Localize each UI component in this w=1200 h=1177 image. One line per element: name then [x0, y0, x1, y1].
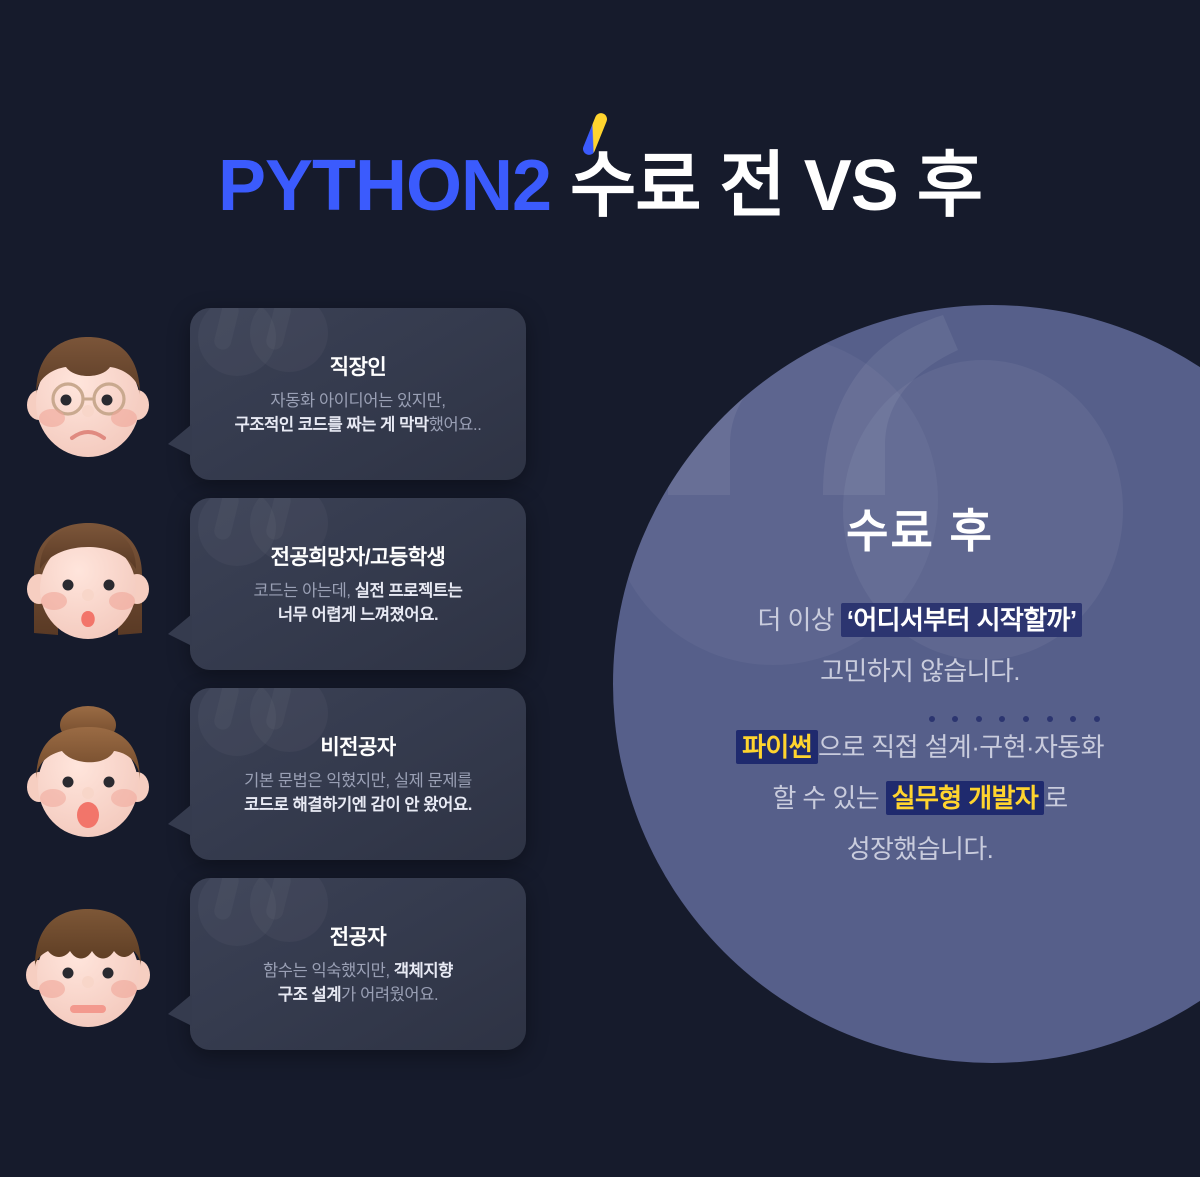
bubble-tail: [168, 614, 192, 646]
after-text-block: 수료 후 더 이상 ‘어디서부터 시작할까’ 고민하지 않습니다. 파이썬으로 …: [640, 495, 1200, 874]
card-line-2: 구조적인 코드를 짜는 게 막막했어요..: [235, 414, 482, 438]
after-highlight-question: ‘어디서부터 시작할까’: [841, 603, 1083, 637]
poster-canvas: PYTHON2 수료 전 VS 후: [0, 0, 1200, 1177]
bubble-tail: [168, 424, 192, 456]
card-body: 전공자 함수는 익숙했지만, 객체지향 구조 설계가 어려웠어요.: [190, 878, 526, 1050]
testimonial-card-3[interactable]: 비전공자 기본 문법은 익혔지만, 실제 문제를 코드로 해결하기엔 감이 안 …: [190, 688, 526, 860]
card-line-2-normal: 했어요..: [429, 416, 482, 434]
avatar-woman-bun: [14, 703, 162, 851]
after-line-4: 할 수 있는 실무형 개발자로: [640, 773, 1200, 824]
after-line-2: 고민하지 않습니다.: [640, 646, 1200, 697]
card-body: 비전공자 기본 문법은 익혔지만, 실제 문제를 코드로 해결하기엔 감이 안 …: [190, 688, 526, 860]
card-line-2: 코드로 해결하기엔 감이 안 왔어요.: [244, 794, 472, 818]
card-line-2: 구조 설계가 어려웠어요.: [278, 984, 438, 1008]
testimonial-card-4[interactable]: 전공자 함수는 익숙했지만, 객체지향 구조 설계가 어려웠어요.: [190, 878, 526, 1050]
page-title: PYTHON2 수료 전 VS 후: [0, 150, 1200, 222]
card-title: 직장인: [330, 351, 386, 381]
avatar-boy-bowlcut: [14, 893, 162, 1041]
after-line-3-mid: 으로 직접: [818, 732, 925, 762]
title-rest-space: [551, 146, 570, 226]
card-line-1: 기본 문법은 익혔지만, 실제 문제를: [244, 770, 472, 794]
card-title: 비전공자: [320, 731, 395, 761]
card-line-1: 코드는 아는데, 실전 프로젝트는: [254, 580, 463, 604]
card-line-2-bold: 구조 설계: [278, 986, 341, 1004]
after-line-4-suffix: 로: [1044, 783, 1067, 813]
slash-accent-icon: [580, 110, 610, 158]
emphasis-dots-icon: [925, 716, 1104, 724]
after-line-5: 성장했습니다.: [640, 824, 1200, 875]
bubble-tail: [168, 994, 192, 1026]
card-body: 전공희망자/고등학생 코드는 아는데, 실전 프로젝트는 너무 어렵게 느껴졌어…: [190, 498, 526, 670]
testimonial-card-1[interactable]: 직장인 자동화 아이디어는 있지만, 구조적인 코드를 짜는 게 막막했어요..: [190, 308, 526, 480]
avatar-student-long-hair: [14, 513, 162, 661]
after-line-3-dotted-text: 설계·구현·자동화: [925, 732, 1104, 762]
card-title: 전공희망자/고등학생: [271, 541, 446, 571]
after-line-1: 더 이상 ‘어디서부터 시작할까’: [640, 595, 1200, 646]
testimonial-card-2[interactable]: 전공희망자/고등학생 코드는 아는데, 실전 프로젝트는 너무 어렵게 느껴졌어…: [190, 498, 526, 670]
title-rest: 수료 전 VS 후: [570, 146, 982, 226]
after-title: 수료 후: [640, 495, 1200, 561]
card-line-1-bold: 실전 프로젝트는: [355, 582, 463, 600]
card-title: 전공자: [330, 921, 386, 951]
after-highlight-developer: 실무형 개발자: [886, 781, 1045, 815]
card-line-1: 함수는 익숙했지만, 객체지향: [263, 960, 453, 984]
card-line-2-bold: 구조적인 코드를 짜는 게 막막: [235, 416, 429, 434]
after-line-3: 파이썬으로 직접 설계·구현·자동화: [640, 722, 1200, 773]
card-line-1-normal: 코드는 아는데,: [254, 582, 355, 600]
after-line-3-dotted: 설계·구현·자동화: [925, 732, 1104, 762]
card-body: 직장인 자동화 아이디어는 있지만, 구조적인 코드를 짜는 게 막막했어요..: [190, 308, 526, 480]
card-line-1-bold: 객체지향: [394, 962, 453, 980]
after-line-4-prefix: 할 수 있는: [772, 783, 885, 813]
card-line-1-normal: 함수는 익숙했지만,: [263, 962, 394, 980]
bubble-tail: [168, 804, 192, 836]
after-line-1-prefix: 더 이상: [758, 605, 841, 635]
title-brand: PYTHON2: [218, 146, 551, 226]
card-line-1: 자동화 아이디어는 있지만,: [270, 390, 445, 414]
card-line-2: 너무 어렵게 느껴졌어요.: [278, 604, 438, 628]
card-line-2-normal: 가 어려웠어요.: [341, 986, 438, 1004]
card-line-2-bold: 코드로 해결하기엔 감이 안 왔어요.: [244, 796, 472, 814]
card-line-2-bold: 너무 어렵게 느껴졌어요.: [278, 606, 438, 624]
after-highlight-python: 파이썬: [736, 730, 818, 764]
avatar-office-worker-glasses: [14, 323, 162, 471]
